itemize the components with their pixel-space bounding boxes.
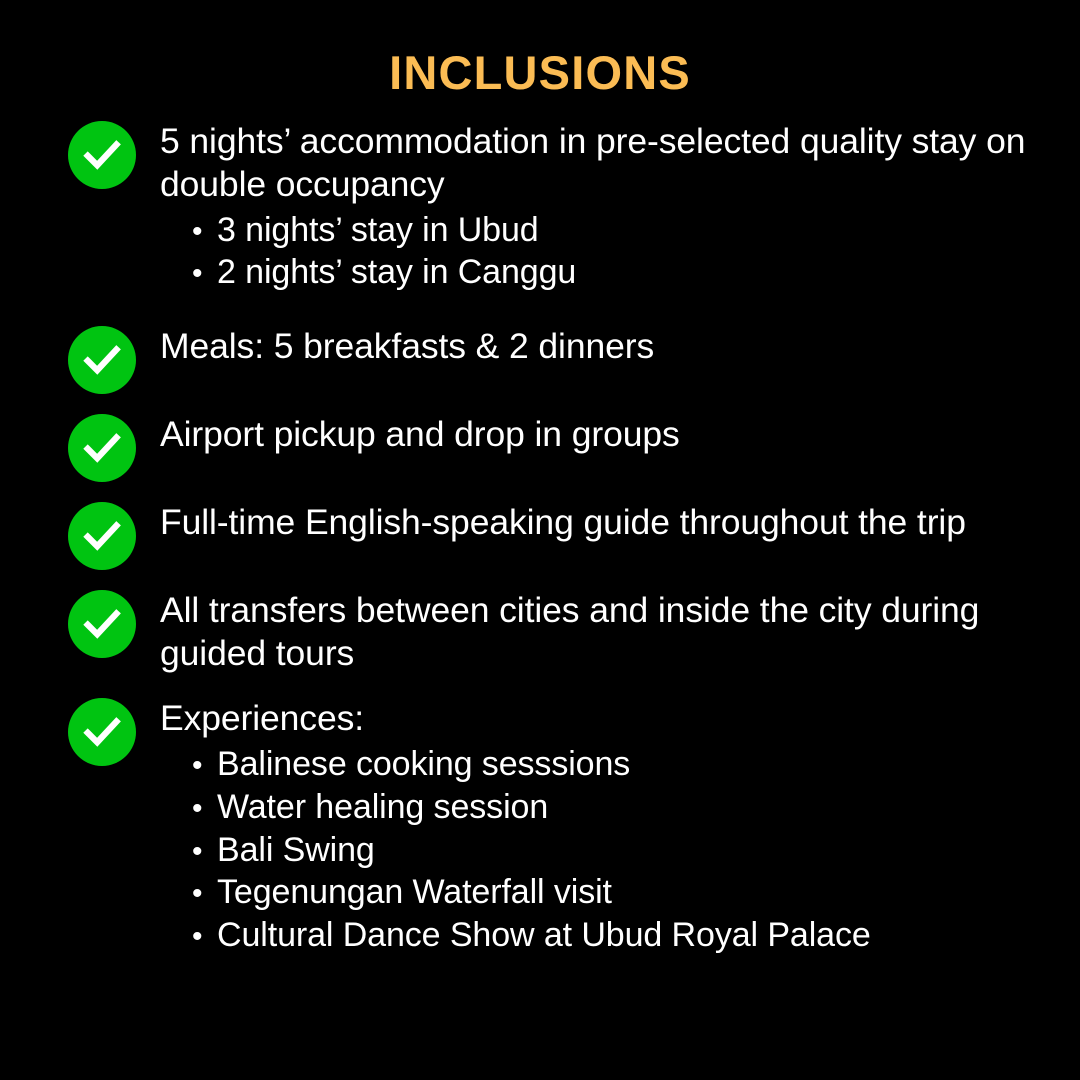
- sub-list-item: • Balinese cooking sesssions: [192, 743, 1060, 786]
- check-mark-icon: [68, 326, 136, 394]
- sub-list-item-label: Cultural Dance Show at Ubud Royal Palace: [217, 914, 1060, 957]
- list-item-label: Airport pickup and drop in groups: [160, 413, 1060, 456]
- check-mark-icon: [68, 698, 136, 766]
- sub-list-item-label: Bali Swing: [217, 829, 1060, 872]
- bullet-dot-icon: •: [192, 922, 217, 952]
- bullet-dot-icon: •: [192, 879, 217, 909]
- sub-list-item: • Tegenungan Waterfall visit: [192, 871, 1060, 914]
- check-mark-icon: [68, 414, 136, 482]
- list-item-body: Meals: 5 breakfasts & 2 dinners: [136, 324, 1060, 368]
- list-item: Meals: 5 breakfasts & 2 dinners: [68, 324, 1060, 394]
- list-item-body: 5 nights’ accommodation in pre-selected …: [136, 119, 1060, 294]
- check-mark-icon: [68, 590, 136, 658]
- list-item-body: Experiences: • Balinese cooking sesssion…: [136, 696, 1060, 957]
- list-item: 5 nights’ accommodation in pre-selected …: [68, 119, 1060, 294]
- sub-list-item-label: 2 nights’ stay in Canggu: [217, 251, 1060, 294]
- inclusions-slide: INCLUSIONS 5 nights’ accommodation in pr…: [0, 0, 1080, 1080]
- bullet-dot-icon: •: [192, 837, 217, 867]
- sub-list-item-label: 3 nights’ stay in Ubud: [217, 209, 1060, 252]
- sub-list-item-label: Tegenungan Waterfall visit: [217, 871, 1060, 914]
- sub-list-item: • Water healing session: [192, 786, 1060, 829]
- sub-list-item: • Cultural Dance Show at Ubud Royal Pala…: [192, 914, 1060, 957]
- bullet-dot-icon: •: [192, 794, 217, 824]
- list-item-label: All transfers between cities and inside …: [160, 589, 1060, 674]
- list-item-body: Airport pickup and drop in groups: [136, 412, 1060, 456]
- list-item: All transfers between cities and inside …: [68, 588, 1060, 674]
- list-item-label: Experiences:: [160, 697, 1060, 740]
- list-item: Airport pickup and drop in groups: [68, 412, 1060, 482]
- list-item: Experiences: • Balinese cooking sesssion…: [68, 696, 1060, 957]
- list-item: Full-time English-speaking guide through…: [68, 500, 1060, 570]
- list-item-label: 5 nights’ accommodation in pre-selected …: [160, 120, 1060, 205]
- sub-list-item: • 3 nights’ stay in Ubud: [192, 209, 1060, 252]
- list-item-body: All transfers between cities and inside …: [136, 588, 1060, 674]
- list-item-label: Meals: 5 breakfasts & 2 dinners: [160, 325, 1060, 368]
- sub-list: • 3 nights’ stay in Ubud • 2 nights’ sta…: [160, 209, 1060, 295]
- list-item-body: Full-time English-speaking guide through…: [136, 500, 1060, 544]
- page-title: INCLUSIONS: [0, 0, 1080, 97]
- bullet-dot-icon: •: [192, 751, 217, 781]
- sub-list-item-label: Water healing session: [217, 786, 1060, 829]
- check-mark-icon: [68, 121, 136, 189]
- check-mark-icon: [68, 502, 136, 570]
- sub-list-item: • Bali Swing: [192, 829, 1060, 872]
- bullet-dot-icon: •: [192, 217, 217, 247]
- sub-list-item: • 2 nights’ stay in Canggu: [192, 251, 1060, 294]
- sub-list-item-label: Balinese cooking sesssions: [217, 743, 1060, 786]
- list-item-label: Full-time English-speaking guide through…: [160, 501, 1060, 544]
- inclusions-list: 5 nights’ accommodation in pre-selected …: [0, 119, 1080, 957]
- bullet-dot-icon: •: [192, 259, 217, 289]
- sub-list: • Balinese cooking sesssions • Water hea…: [160, 743, 1060, 957]
